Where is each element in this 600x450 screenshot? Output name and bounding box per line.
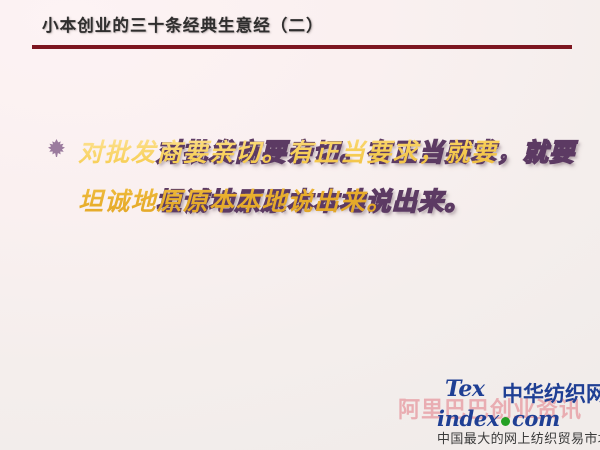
slide-title-area: 小本创业的三十条经典生意经（二）: [0, 14, 600, 58]
watermark-brand-cn: 中华纺织网: [502, 378, 600, 408]
presentation-slide: 小本创业的三十条经典生意经（二） 对批发商要亲切。有正当要求，就要 坦诚地原原本…: [0, 0, 600, 450]
bullet-list-item: 对批发商要亲切。有正当要求，就要 坦诚地原原本本地说出来。 对批发商要亲切。有正…: [0, 128, 600, 226]
bullet-text: 对批发商要亲切。有正当要求，就要 坦诚地原原本本地说出来。: [78, 128, 600, 226]
slide-body-area: 对批发商要亲切。有正当要求，就要 坦诚地原原本本地说出来。 对批发商要亲切。有正…: [0, 128, 600, 226]
watermark-logo-line-1: Tex 中华纺织网: [437, 378, 600, 404]
title-underline-divider: [32, 45, 572, 49]
watermark-logo-line-2: index com: [437, 406, 600, 429]
page-title: 小本创业的三十条经典生意经（二）: [42, 14, 324, 38]
watermark-tagline: 中国最大的网上纺织贸易市场: [437, 428, 600, 447]
bullet-text-stack: 对批发商要亲切。有正当要求，就要 坦诚地原原本本地说出来。 对批发商要亲切。有正…: [78, 128, 600, 226]
watermark-green-dot-icon: [501, 417, 510, 426]
maple-leaf-bullet-icon: [48, 139, 65, 157]
watermark-tex-word: Tex: [445, 376, 484, 402]
watermark-texindex-logo: Tex 中华纺织网 index com: [437, 378, 600, 429]
